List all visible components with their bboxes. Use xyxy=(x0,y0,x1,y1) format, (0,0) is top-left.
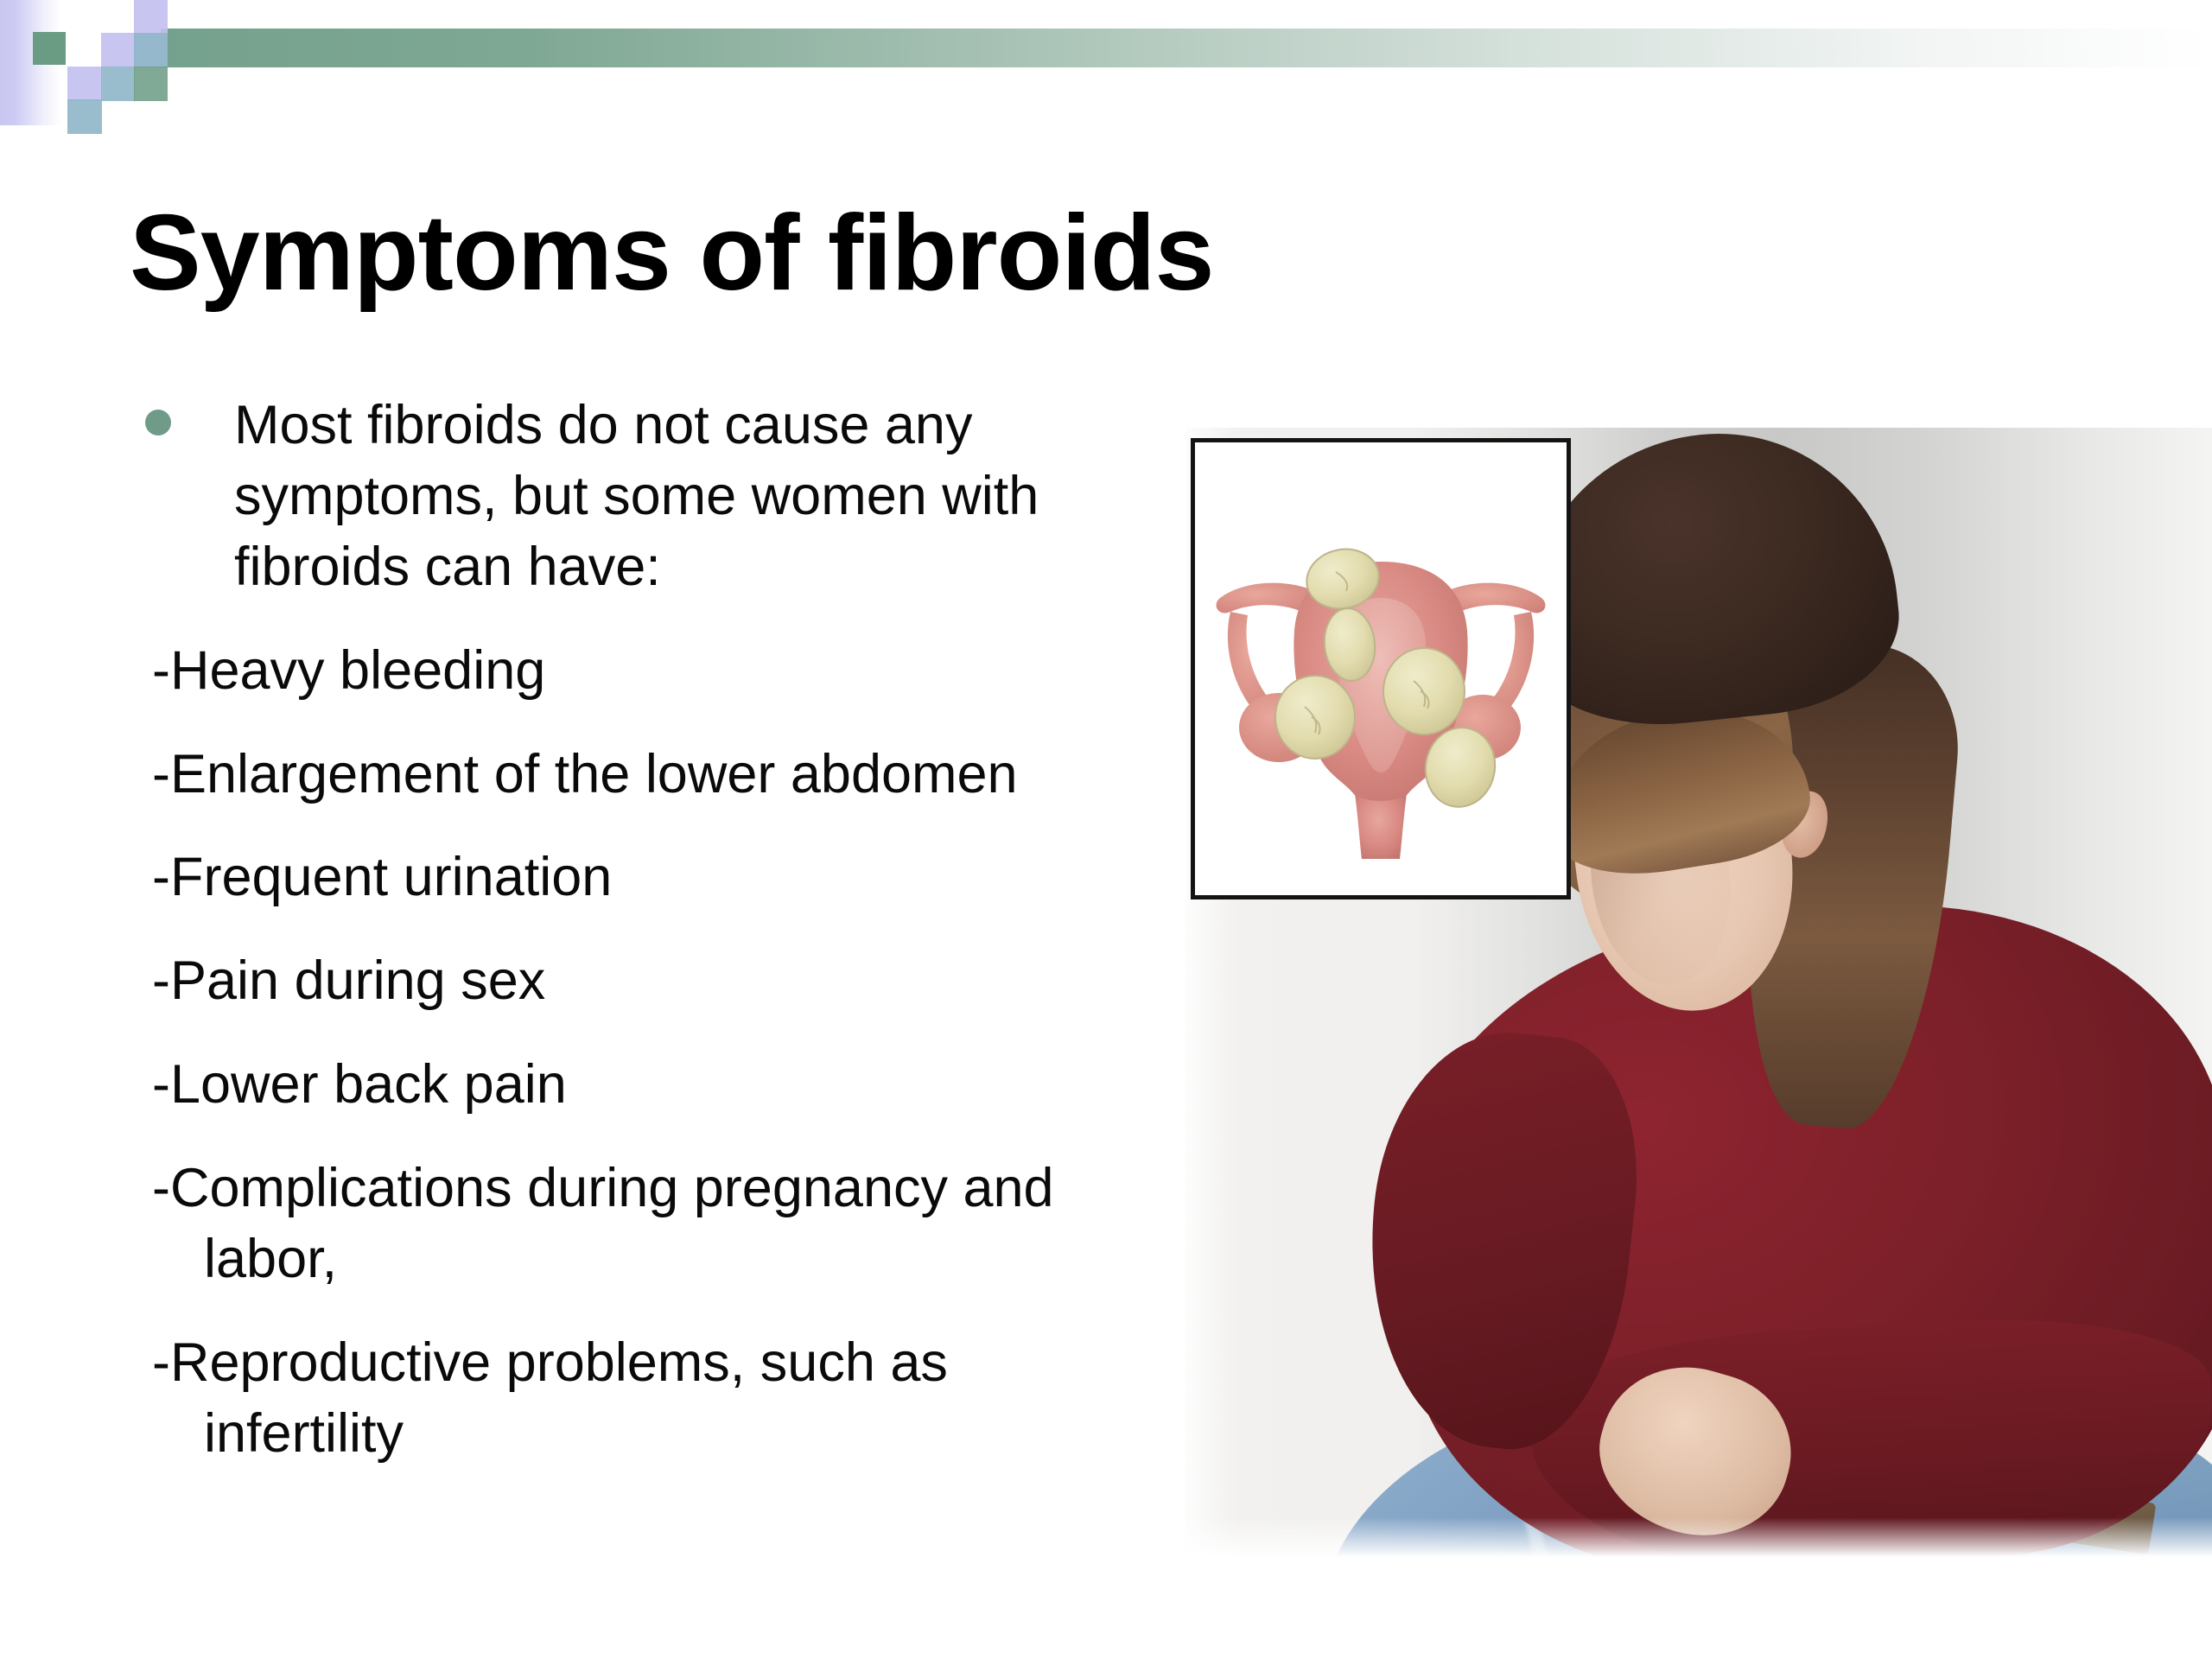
symptom-label: -Frequent urination xyxy=(152,847,612,907)
decoration-green-gradient-bar xyxy=(161,29,2212,67)
uterus-fibroid-diagram xyxy=(1191,438,1571,899)
symptom-label: -Enlargement of the lower abdomen xyxy=(152,744,1018,804)
symptom-list-item: -Lower back pain xyxy=(145,1050,1182,1121)
bullet-item-label: Most fibroids do not cause any symptoms,… xyxy=(234,391,1182,603)
uterus-illustration-svg xyxy=(1208,496,1554,859)
bullet-list-item: Most fibroids do not cause any symptoms,… xyxy=(145,391,1182,603)
round-bullet-icon xyxy=(145,410,171,435)
symptom-list-item: -Frequent urination xyxy=(145,842,1182,913)
symptom-label: -Complications during pregnancy and xyxy=(152,1158,1054,1218)
decoration-square-lavender-low xyxy=(67,67,102,101)
decoration-square-lavender-mid xyxy=(101,33,135,67)
symptom-label-continuation: infertility xyxy=(152,1399,1182,1470)
decoration-square-blue-mid xyxy=(101,67,135,101)
decoration-square-blue-lower xyxy=(67,99,102,134)
symptom-label: -Lower back pain xyxy=(152,1054,567,1115)
decoration-square-green-small xyxy=(33,32,66,65)
symptom-label: -Heavy bleeding xyxy=(152,640,545,701)
page-title: Symptoms of fibroids xyxy=(130,197,1771,310)
symptom-label-continuation: labor, xyxy=(152,1224,1182,1295)
decoration-square-green-overlap xyxy=(134,67,168,101)
symptom-list-item: -Heavy bleeding xyxy=(145,636,1182,707)
slide-body-content: Most fibroids do not cause any symptoms,… xyxy=(145,391,1182,1470)
symptom-list-item: -Enlargement of the lower abdomen xyxy=(145,740,1182,810)
decoration-square-blue-upper xyxy=(134,33,168,67)
photo-bottom-fade xyxy=(1185,1517,2212,1560)
symptom-list-item: -Complications during pregnancy and labo… xyxy=(145,1154,1182,1295)
header-decoration xyxy=(0,0,2212,147)
symptom-label: -Pain during sex xyxy=(152,950,545,1011)
symptom-label: -Reproductive problems, such as xyxy=(152,1332,948,1393)
slide-media-area xyxy=(1185,428,2212,1560)
symptom-list-item: -Reproductive problems, such as infertil… xyxy=(145,1328,1182,1470)
symptom-list-item: -Pain during sex xyxy=(145,946,1182,1017)
presentation-slide: Symptoms of fibroids Most fibroids do no… xyxy=(0,0,2212,1659)
